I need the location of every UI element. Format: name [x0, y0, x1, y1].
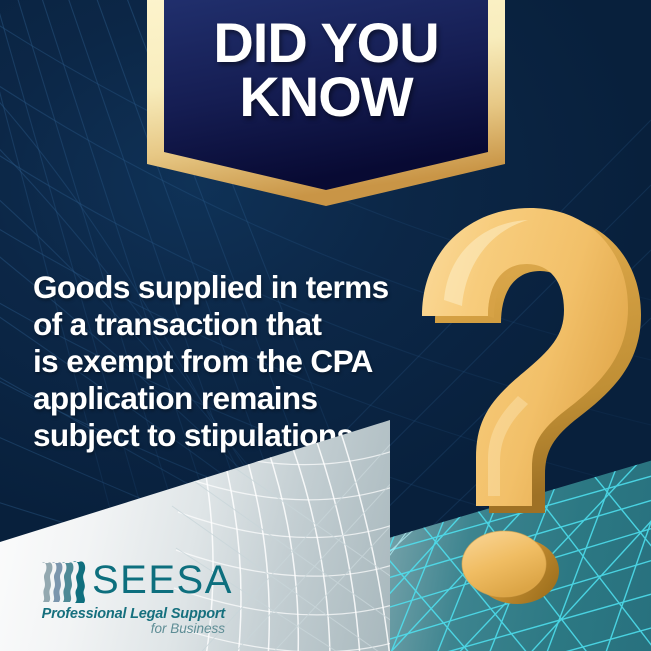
headline-line-3: is exempt from the CPA: [33, 343, 433, 380]
headline-line-2: of a transaction that: [33, 306, 433, 343]
headline-line-1: Goods supplied in terms: [33, 269, 433, 306]
headline-line-4: application remains: [33, 380, 433, 417]
seesa-tagline-primary: Professional Legal Support: [40, 606, 225, 622]
seesa-tagline-secondary: for Business: [40, 621, 225, 636]
banner-title-line2: KNOW: [147, 70, 505, 124]
did-you-know-poster: DID YOU KNOW Goods supplied in terms of …: [0, 0, 651, 651]
banner-title: DID YOU KNOW: [147, 16, 505, 125]
banner-shape: DID YOU KNOW: [147, 0, 505, 209]
seesa-wordmark: SEESA: [92, 558, 233, 602]
question-mark-icon: [414, 196, 651, 616]
seesa-wave-mark-icon: [40, 559, 87, 605]
seesa-logo[interactable]: SEESA Professional Legal Support for Bus…: [40, 558, 225, 630]
logo-row: SEESA: [40, 558, 225, 605]
